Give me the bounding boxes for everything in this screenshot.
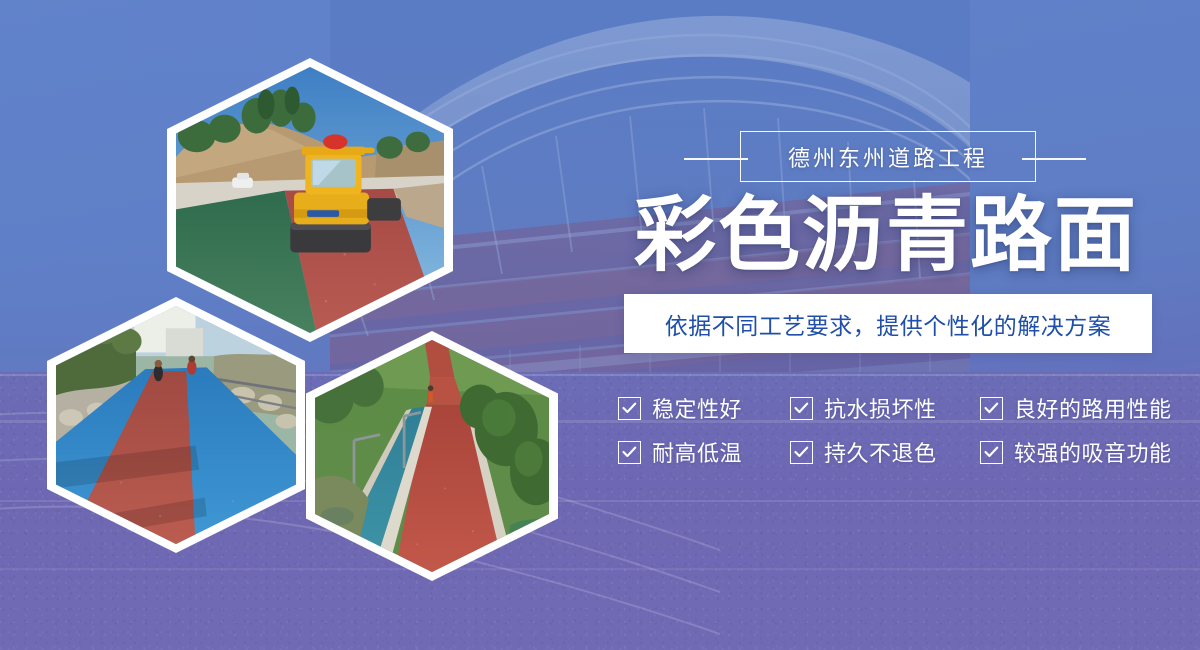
feature-label: 持久不退色 bbox=[824, 436, 937, 468]
eyebrow-rule-left bbox=[684, 158, 748, 160]
feature-label: 良好的路用性能 bbox=[1014, 392, 1172, 424]
feature-item[interactable]: 持久不退色 bbox=[790, 436, 980, 468]
tagline-text: 依据不同工艺要求，提供个性化的解决方案 bbox=[665, 307, 1112, 341]
feature-label: 耐高低温 bbox=[652, 436, 742, 468]
feature-label: 稳定性好 bbox=[652, 392, 742, 424]
checkbox-checked-icon bbox=[980, 397, 1003, 420]
brand-eyebrow-text: 德州东州道路工程 bbox=[788, 141, 988, 173]
tagline-bar: 依据不同工艺要求，提供个性化的解决方案 bbox=[624, 294, 1152, 353]
feature-item[interactable]: 抗水损坏性 bbox=[790, 392, 980, 424]
hex-image-redblue bbox=[56, 306, 296, 544]
feature-row: 稳定性好 抗水损坏性 良好的路用性能 bbox=[618, 392, 1174, 424]
checkbox-checked-icon bbox=[790, 397, 813, 420]
hex-photo-redblue[interactable] bbox=[47, 297, 305, 553]
hex-frame bbox=[47, 297, 305, 553]
feature-row: 耐高低温 持久不退色 较强的吸音功能 bbox=[618, 436, 1174, 468]
checkbox-checked-icon bbox=[618, 441, 641, 464]
hex-image-roller bbox=[176, 67, 444, 333]
feature-item[interactable]: 较强的吸音功能 bbox=[980, 436, 1172, 468]
feature-item[interactable]: 稳定性好 bbox=[618, 392, 790, 424]
feature-item[interactable]: 良好的路用性能 bbox=[980, 392, 1172, 424]
checkbox-checked-icon bbox=[980, 441, 1003, 464]
checkbox-checked-icon bbox=[618, 397, 641, 420]
brand-eyebrow-box: 德州东州道路工程 bbox=[740, 131, 1036, 182]
hex-frame bbox=[306, 331, 558, 581]
checkbox-checked-icon bbox=[790, 441, 813, 464]
feature-label: 抗水损坏性 bbox=[824, 392, 937, 424]
hex-photo-greenway[interactable] bbox=[306, 331, 558, 581]
feature-item[interactable]: 耐高低温 bbox=[618, 436, 790, 468]
feature-label: 较强的吸音功能 bbox=[1014, 436, 1172, 468]
page-title: 彩色沥青路面 bbox=[634, 190, 1154, 282]
promo-banner: 德州东州道路工程 彩色沥青路面 依据不同工艺要求，提供个性化的解决方案 稳定性好… bbox=[0, 0, 1200, 650]
hex-image-greenway bbox=[315, 340, 549, 572]
feature-list: 稳定性好 抗水损坏性 良好的路用性能 耐高低温 bbox=[618, 392, 1174, 468]
